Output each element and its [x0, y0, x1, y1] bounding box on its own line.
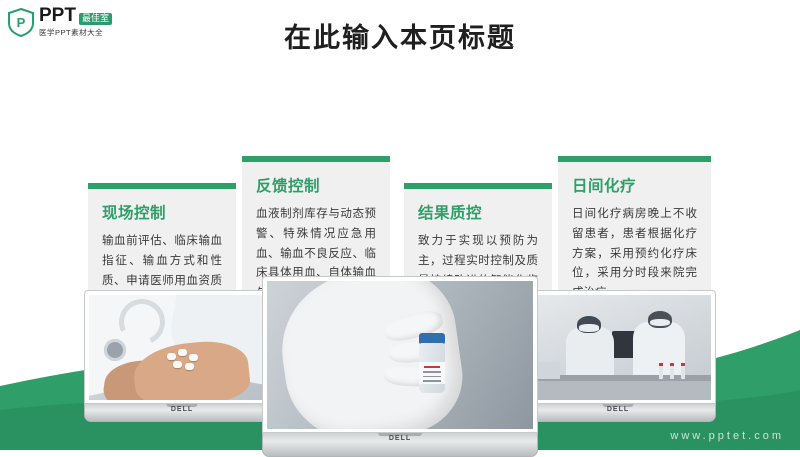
laptop-base: DELL — [84, 404, 280, 422]
photo-lab-technicians — [525, 295, 711, 400]
laptop-screen-photo-lab — [525, 295, 711, 400]
laptop-screen-photo-vial — [267, 281, 533, 429]
laptop-brand-label: DELL — [607, 406, 629, 413]
card-group: 现场控制 输血前评估、临床输血指征、输血方式和性质、申请医师用血资质和用血权限 … — [0, 78, 800, 288]
laptop-base: DELL — [262, 433, 538, 457]
laptop-screen-photo-doctor-pills — [89, 295, 275, 400]
card-heading: 日间化疗 — [572, 174, 697, 196]
laptop-left: DELL — [84, 290, 280, 422]
laptop-lid — [84, 290, 280, 404]
card-heading: 现场控制 — [102, 201, 222, 223]
slide: P PPT 最佳室 医学PPT素材大全 在此输入本页标题 现场控制 输血前评估、… — [0, 0, 800, 450]
card-body-text: 日间化疗病房晚上不收留患者，患者根据化疗方案，采用预约化疗床位，采用分时段来院完… — [572, 205, 697, 304]
laptop-lid — [520, 290, 716, 404]
laptop-brand-label: DELL — [389, 435, 411, 442]
photo-gloved-hand-vial — [267, 281, 533, 429]
card-heading: 反馈控制 — [256, 174, 376, 196]
laptop-center: DELL — [262, 276, 538, 457]
watermark: www.pptet.com — [670, 430, 784, 442]
photo-doctor-holding-pills — [89, 295, 275, 400]
laptop-brand-label: DELL — [171, 406, 193, 413]
laptop-right: DELL — [520, 290, 716, 422]
laptop-base: DELL — [520, 404, 716, 422]
laptop-lid — [262, 276, 538, 433]
page-title: 在此输入本页标题 — [0, 16, 800, 55]
card-heading: 结果质控 — [418, 201, 538, 223]
